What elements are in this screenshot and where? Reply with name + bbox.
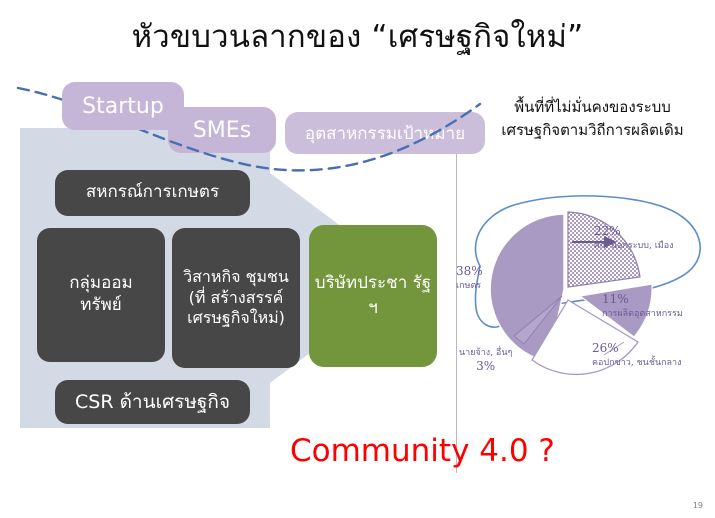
driver-box-community-enterprise-label: วิสาหกิจ ชุมชน (ที่ สร้างสรรค์ เศรษฐกิจใ… bbox=[178, 267, 294, 328]
slide-caption: Community 4.0 ? bbox=[290, 433, 555, 469]
driver-box-savings-group[interactable]: กลุ่มออม ทรัพย์ bbox=[37, 228, 165, 362]
driver-box-savings-group-label: กลุ่มออม ทรัพย์ bbox=[69, 273, 133, 317]
annotation-line-2: เศรษฐกิจตามวิถีการผลิตเดิม bbox=[470, 119, 715, 142]
driver-box-community-enterprise[interactable]: วิสาหกิจ ชุมชน (ที่ สร้างสรรค์ เศรษฐกิจใ… bbox=[172, 228, 300, 368]
driver-box-pracharat-company-label: บริษัทประชา รัฐ ฯ bbox=[309, 271, 437, 320]
pie-label-employer-other-pct: 3% bbox=[459, 359, 512, 373]
page-number: 19 bbox=[693, 501, 703, 510]
pie-label-employer-other-name: นายจ้าง, อื่นๆ bbox=[459, 345, 512, 359]
pie-label-industrial: 11% การผลิตอุตสาหกรรม bbox=[602, 292, 683, 320]
annotation-line-1: พื้นที่ที่ไม่มั่นคงของระบบ bbox=[470, 96, 715, 119]
driver-box-pracharat-company[interactable]: บริษัทประชา รัฐ ฯ bbox=[309, 225, 437, 367]
driver-box-csr-economy[interactable]: CSR ด้านเศรษฐกิจ bbox=[55, 380, 250, 424]
pie-label-informal-urban: 22% ศก. นอกระบบ, เมือง bbox=[594, 224, 674, 252]
pie-label-industrial-pct: 11% bbox=[602, 292, 683, 306]
pie-label-informal-urban-name: ศก. นอกระบบ, เมือง bbox=[594, 238, 674, 252]
pie-label-informal-urban-pct: 22% bbox=[594, 224, 674, 238]
slide-canvas: หัวขบวนลากของ “เศรษฐกิจใหม่” Startup SME… bbox=[0, 0, 715, 518]
pie-label-employer-other: นายจ้าง, อื่นๆ 3% bbox=[459, 345, 512, 373]
pie-label-agriculture-name: เกษตร bbox=[456, 278, 483, 292]
driver-box-startup[interactable]: Startup bbox=[62, 82, 184, 130]
driver-box-csr-economy-label: CSR ด้านเศรษฐกิจ bbox=[75, 390, 230, 414]
page-title: หัวขบวนลากของ “เศรษฐกิจใหม่” bbox=[0, 18, 715, 56]
pie-label-industrial-name: การผลิตอุตสาหกรรม bbox=[602, 306, 683, 320]
annotation-text: พื้นที่ที่ไม่มั่นคงของระบบ เศรษฐกิจตามวิ… bbox=[470, 96, 715, 141]
pie-label-white-collar: 26% คอปกขาว, ชนชั้นกลาง bbox=[592, 341, 682, 369]
pie-label-white-collar-pct: 26% bbox=[592, 341, 682, 355]
pie-label-white-collar-name: คอปกขาว, ชนชั้นกลาง bbox=[592, 355, 682, 369]
driver-box-startup-label: Startup bbox=[82, 94, 164, 119]
pie-label-agriculture: 38% เกษตร bbox=[456, 264, 483, 292]
pie-label-agriculture-pct: 38% bbox=[456, 264, 483, 278]
